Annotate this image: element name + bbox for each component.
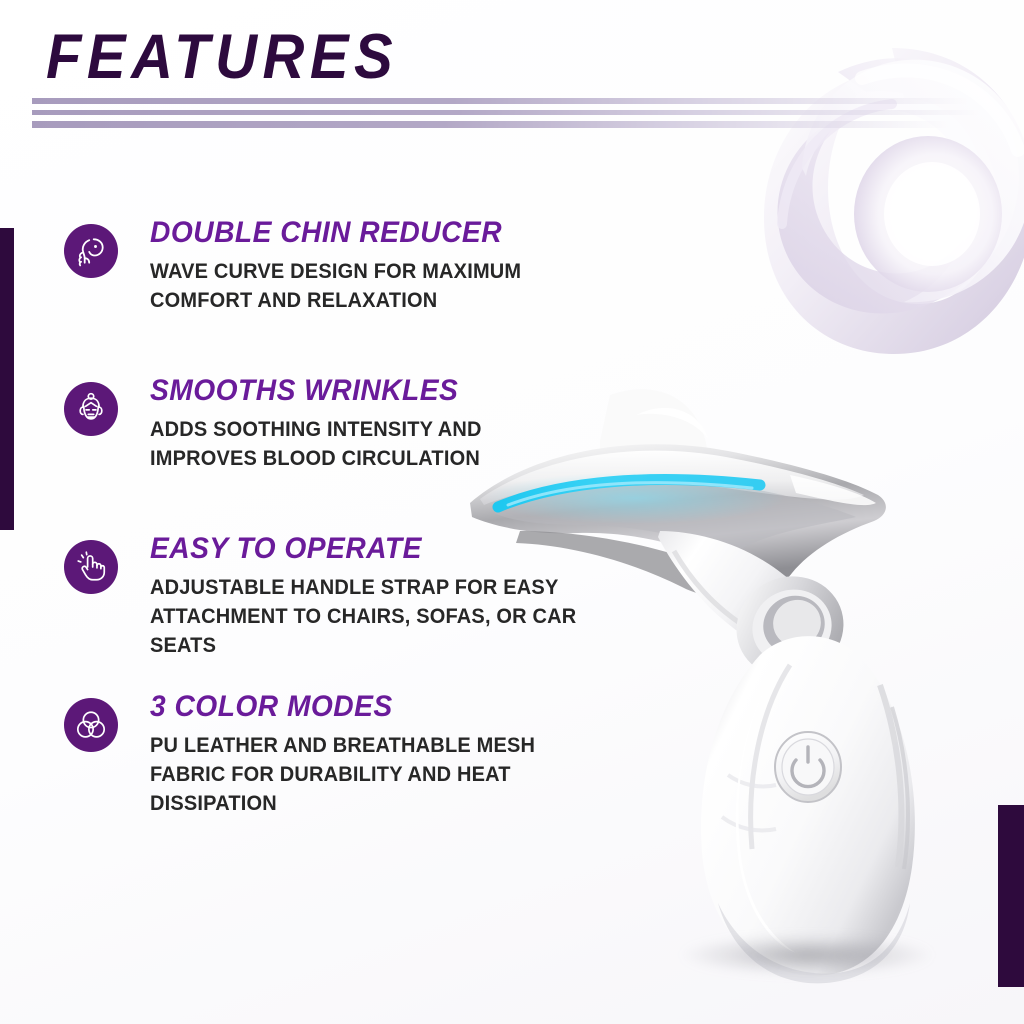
header-rule-2 (32, 110, 980, 115)
header-rule-1 (32, 98, 967, 104)
feature-title: EASY TO OPERATE (150, 532, 596, 566)
feature-title: SMOOTHS WRINKLES (150, 374, 596, 408)
feature-item: 3 COLOR MODES PU LEATHER AND BREATHABLE … (64, 690, 624, 838)
abstract-ribbon-knot (742, 18, 1024, 388)
header-underline-rules (32, 95, 992, 131)
page-title: FEATURES (46, 22, 561, 92)
purple-edge-bar-right (998, 805, 1024, 987)
tap-hand-icon (64, 540, 118, 594)
feature-list: DOUBLE CHIN REDUCER WAVE CURVE DESIGN FO… (64, 214, 624, 838)
feature-title: 3 COLOR MODES (150, 690, 596, 724)
feature-title: DOUBLE CHIN REDUCER (150, 216, 596, 250)
feature-item: SMOOTHS WRINKLES ADDS SOOTHING INTENSITY… (64, 374, 624, 522)
feature-item: DOUBLE CHIN REDUCER WAVE CURVE DESIGN FO… (64, 216, 624, 364)
purple-edge-bar-left (0, 228, 14, 530)
three-circles-icon (64, 698, 118, 752)
double-chin-face-icon (64, 224, 118, 278)
feature-description: PU LEATHER AND BREATHABLE MESH FABRIC FO… (150, 731, 587, 818)
feature-item: EASY TO OPERATE ADJUSTABLE HANDLE STRAP … (64, 532, 624, 680)
wrinkled-face-icon (64, 382, 118, 436)
product-shadow (682, 935, 932, 975)
feature-description: ADDS SOOTHING INTENSITY AND IMPROVES BLO… (150, 415, 587, 473)
feature-description: ADJUSTABLE HANDLE STRAP FOR EASY ATTACHM… (150, 573, 587, 660)
feature-infographic-page: FEATURES (0, 0, 1024, 1024)
power-button-group (775, 732, 841, 802)
page-header: FEATURES (46, 22, 606, 92)
feature-description: WAVE CURVE DESIGN FOR MAXIMUM COMFORT AN… (150, 257, 587, 315)
header-rule-3 (32, 121, 948, 128)
